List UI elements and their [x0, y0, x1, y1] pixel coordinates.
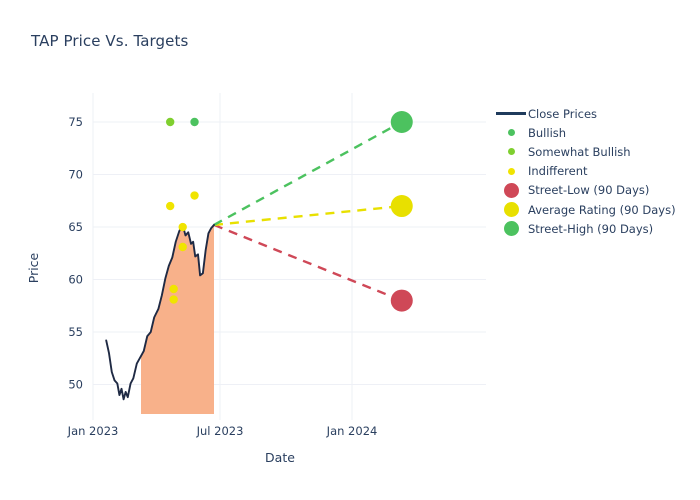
rating-marker-indifferent[interactable] — [169, 295, 177, 303]
chart-container: TAP Price Vs. Targets 757065605550 Jan 2… — [0, 0, 700, 500]
legend-label: Street-Low (90 Days) — [528, 183, 649, 197]
legend-swatch-dot-large — [494, 221, 528, 236]
x-tick-jan-2024: Jan 2024 — [326, 424, 378, 438]
legend-item-indifferent[interactable]: Indifferent — [494, 162, 694, 181]
x-axis-tick-labels: Jan 2023Jul 2023Jan 2024 — [67, 424, 378, 438]
legend-item-average-rating-90-days[interactable]: Average Rating (90 Days) — [494, 200, 694, 219]
legend-swatch-dot-large — [494, 183, 528, 198]
close-price-area-fill — [141, 225, 214, 414]
y-tick-65: 65 — [68, 220, 83, 234]
legend-label: Average Rating (90 Days) — [528, 203, 676, 217]
target-marker-average-rating-90-days[interactable] — [391, 195, 413, 217]
legend-label: Street-High (90 Days) — [528, 222, 653, 236]
legend-item-bullish[interactable]: Bullish — [494, 123, 694, 142]
chart-legend: Close PricesBullishSomewhat BullishIndif… — [494, 104, 694, 238]
x-axis-title: Date — [265, 450, 295, 465]
legend-item-close-prices[interactable]: Close Prices — [494, 104, 694, 123]
legend-item-street-high-90-days[interactable]: Street-High (90 Days) — [494, 219, 694, 238]
target-price-markers — [391, 111, 413, 312]
rating-marker-indifferent[interactable] — [179, 223, 187, 231]
y-tick-50: 50 — [68, 378, 83, 392]
x-tick-jan-2023: Jan 2023 — [67, 424, 119, 438]
legend-swatch-dot-small — [494, 168, 528, 175]
y-axis-title: Price — [26, 252, 41, 283]
y-tick-75: 75 — [68, 115, 83, 129]
legend-swatch-line — [494, 112, 528, 114]
legend-item-somewhat-bullish[interactable]: Somewhat Bullish — [494, 142, 694, 161]
y-tick-70: 70 — [68, 168, 83, 182]
rating-marker-indifferent[interactable] — [179, 243, 187, 251]
legend-item-street-low-90-days[interactable]: Street-Low (90 Days) — [494, 181, 694, 200]
rating-marker-somewhat-bullish[interactable] — [166, 118, 174, 126]
target-projection-lines — [214, 122, 402, 301]
legend-label: Indifferent — [528, 164, 588, 178]
legend-label: Close Prices — [528, 107, 597, 121]
y-tick-55: 55 — [68, 325, 83, 339]
rating-marker-bullish[interactable] — [190, 118, 198, 126]
rating-marker-indifferent[interactable] — [166, 202, 174, 210]
target-marker-street-low-90-days[interactable] — [391, 290, 413, 312]
legend-label: Somewhat Bullish — [528, 145, 631, 159]
chart-plot-svg: 757065605550 Jan 2023Jul 2023Jan 2024 Pr… — [0, 0, 700, 500]
rating-marker-indifferent[interactable] — [169, 285, 177, 293]
y-axis-tick-labels: 757065605550 — [68, 115, 83, 392]
legend-swatch-dot-small — [494, 148, 528, 155]
legend-swatch-dot-small — [494, 129, 528, 136]
x-tick-jul-2023: Jul 2023 — [196, 424, 244, 438]
target-marker-street-high-90-days[interactable] — [391, 111, 413, 133]
legend-label: Bullish — [528, 126, 566, 140]
x-gridlines — [93, 93, 352, 420]
y-tick-60: 60 — [68, 273, 83, 287]
target-line-street-low-90-days — [214, 225, 402, 301]
rating-marker-indifferent[interactable] — [190, 191, 198, 199]
legend-swatch-dot-large — [494, 202, 528, 217]
